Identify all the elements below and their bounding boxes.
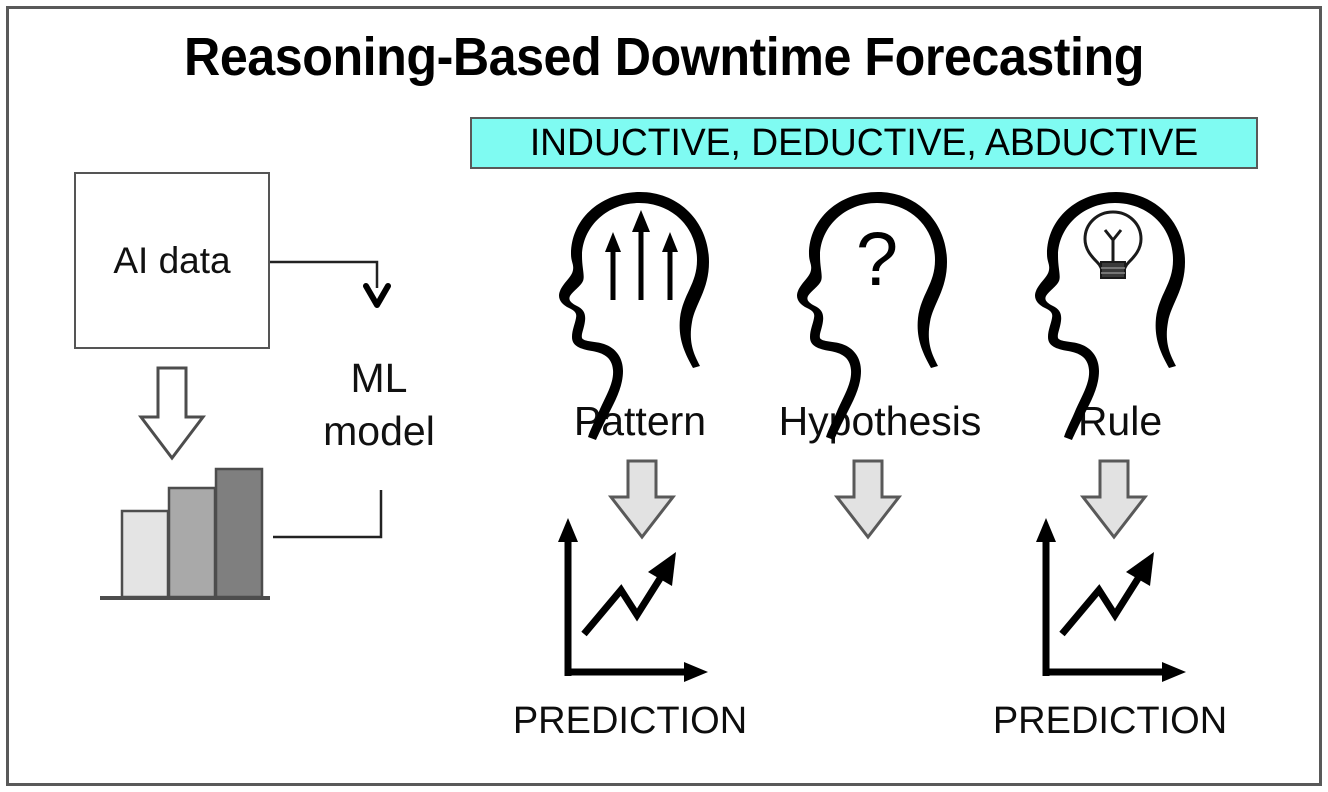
column-label-hypothesis: Hypothesis (760, 398, 1000, 445)
ml-model-label: ML model (294, 352, 464, 458)
column-label-rule: Rule (1030, 398, 1210, 445)
page-title: Reasoning-Based Downtime Forecasting (46, 26, 1281, 88)
ml-model-label-line1: ML (294, 352, 464, 405)
figure-canvas: Reasoning-Based Downtime Forecasting IND… (0, 0, 1328, 792)
prediction-label-left: PREDICTION (490, 700, 770, 743)
banner-text: INDUCTIVE, DEDUCTIVE, ABDUCTIVE (530, 122, 1198, 165)
ai-data-box: AI data (74, 172, 270, 349)
reasoning-types-banner: INDUCTIVE, DEDUCTIVE, ABDUCTIVE (470, 117, 1258, 169)
prediction-label-right: PREDICTION (970, 700, 1250, 743)
ai-data-label: AI data (113, 240, 230, 282)
ml-model-label-line2: model (294, 405, 464, 458)
column-label-pattern: Pattern (540, 398, 740, 445)
